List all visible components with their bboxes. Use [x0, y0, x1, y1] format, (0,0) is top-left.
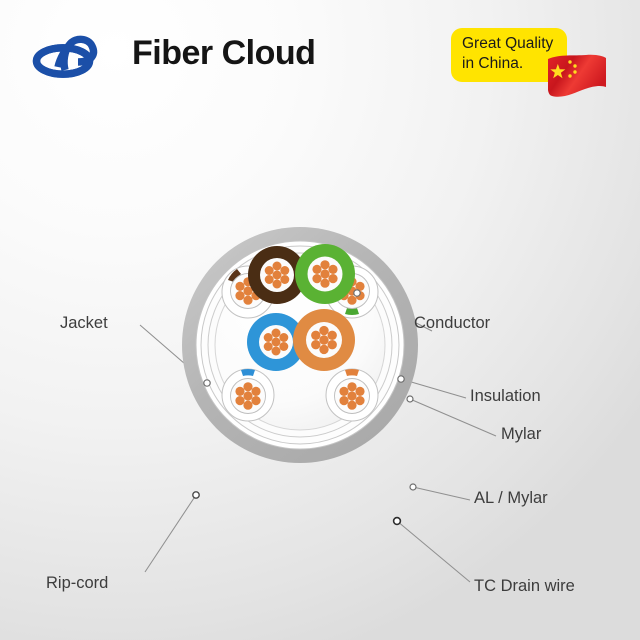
brand-lockup: Fiber Cloud [32, 28, 315, 78]
endpoint-mylar [407, 396, 413, 402]
conductor-white-orange [326, 369, 378, 421]
endpoint-insulation [398, 376, 404, 382]
page-root: Fiber Cloud Great Quality in China. [0, 0, 640, 640]
badge-line-1: Great Quality [462, 34, 557, 54]
label-mylar: Mylar [501, 425, 541, 444]
china-flag-icon [546, 53, 608, 101]
brand-name: Fiber Cloud [132, 36, 315, 70]
label-insulation: Insulation [470, 387, 541, 406]
cable-cross-section-diagram: Jacket Rip-cord Conductor Insulation Myl… [0, 110, 640, 640]
label-conductor: Conductor [414, 314, 490, 333]
label-jacket: Jacket [60, 314, 108, 333]
page-header: Fiber Cloud Great Quality in China. [0, 0, 640, 110]
endpoint-al-mylar [410, 484, 416, 490]
label-tc-drain-wire: TC Drain wire [474, 577, 575, 596]
endpoint-rip-cord [193, 492, 199, 498]
endpoint-tc-drain-wire [394, 518, 401, 525]
badge-line-2: in China. [462, 54, 557, 74]
fiber-cloud-logo-icon [32, 28, 118, 78]
cable-diagram-svg [0, 110, 640, 640]
endpoint-jacket [204, 380, 210, 386]
conductor-white-blue [222, 369, 274, 421]
label-rip-cord: Rip-cord [46, 574, 108, 593]
label-al-mylar: AL / Mylar [474, 489, 548, 508]
endpoint-conductor [354, 290, 360, 296]
conductor-green [295, 244, 355, 304]
conductor-orange [293, 309, 355, 371]
